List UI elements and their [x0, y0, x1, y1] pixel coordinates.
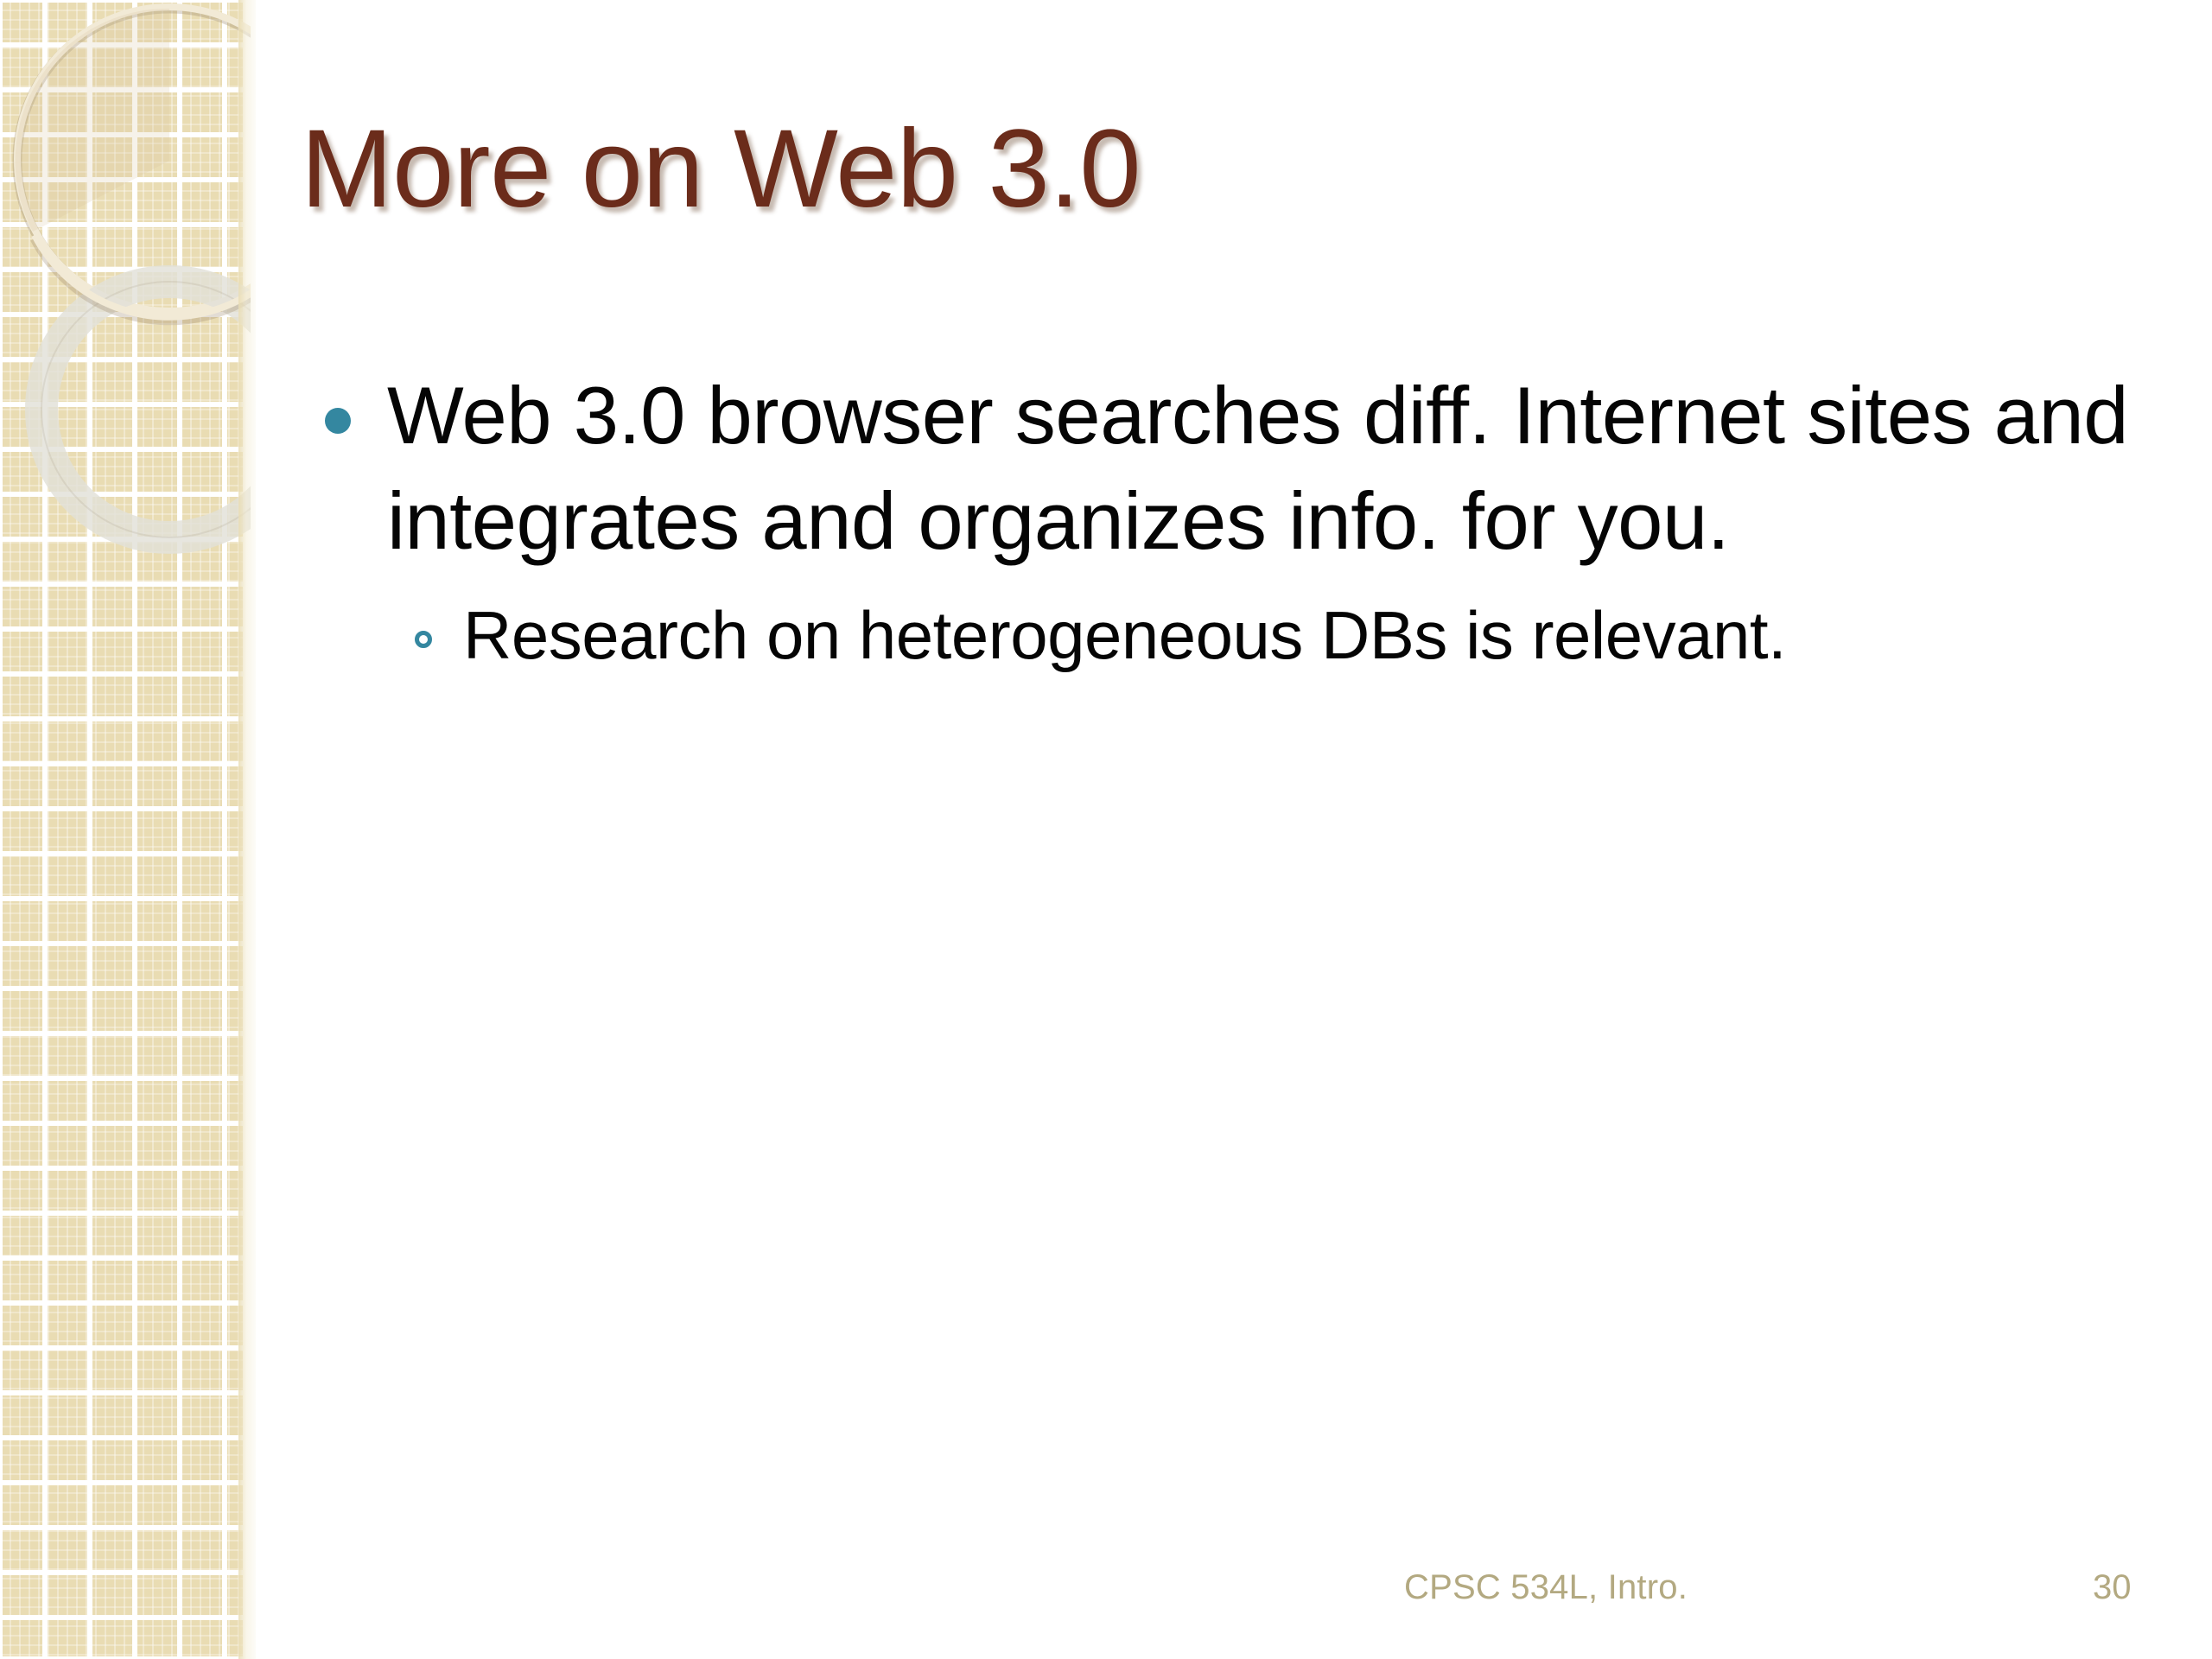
sidebar-edge-fade — [238, 0, 256, 1659]
sidebar-decorative-rings — [0, 0, 256, 1659]
bullet-level2-text: Research on heterogeneous DBs is relevan… — [463, 597, 1786, 673]
ring-wedge-shade-icon — [16, 9, 169, 232]
slide-body: Web 3.0 browser searches diff. Internet … — [301, 363, 2167, 679]
footer-course-label: CPSC 534L, Intro. — [1404, 1568, 1688, 1607]
filled-disc-bullet-icon — [325, 408, 351, 434]
bullet-item-level1: Web 3.0 browser searches diff. Internet … — [301, 363, 2167, 574]
slide-title: More on Web 3.0 — [301, 114, 1141, 225]
bullet-item-level2: Research on heterogeneous DBs is relevan… — [387, 593, 2167, 679]
hollow-circle-bullet-icon — [415, 631, 432, 648]
bullet-level1-text: Web 3.0 browser searches diff. Internet … — [387, 370, 2128, 566]
slide: More on Web 3.0 Web 3.0 browser searches… — [0, 0, 2212, 1659]
slide-page-number: 30 — [2093, 1568, 2132, 1607]
decorative-sidebar — [0, 0, 256, 1659]
